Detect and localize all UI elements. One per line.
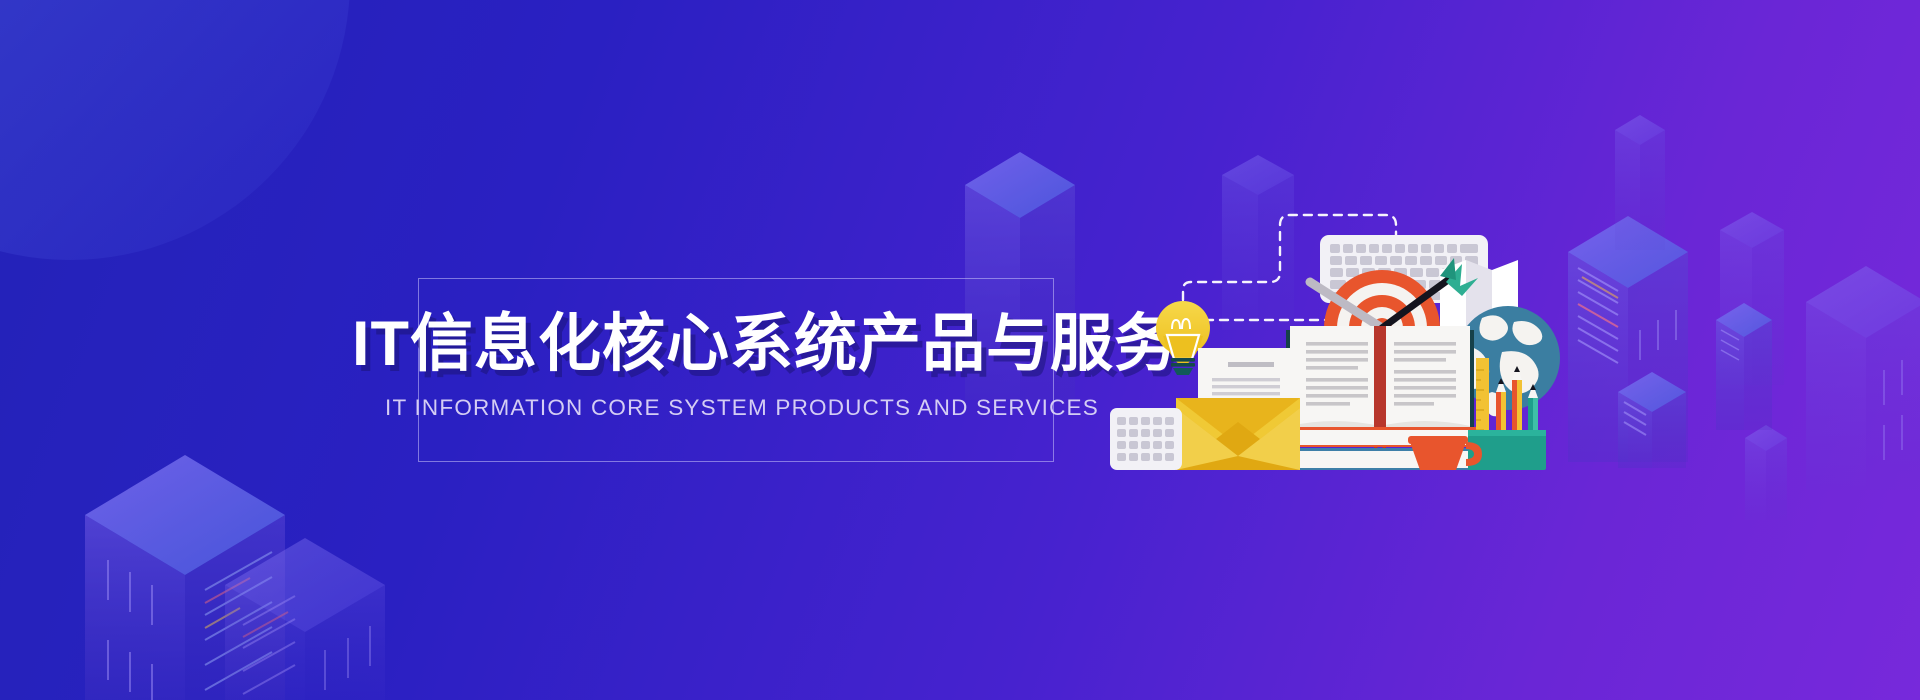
it-services-illustration — [1110, 130, 1570, 470]
building-right-tiny — [1745, 425, 1787, 520]
building-far-right-wide — [1806, 266, 1920, 490]
page-title: IT信息化核心系统产品与服务 — [352, 310, 1132, 378]
title-block: IT信息化核心系统产品与服务 IT INFORMATION CORE SYSTE… — [352, 310, 1132, 421]
building-far-right-slim — [1716, 303, 1772, 430]
building-top-right-slim — [1615, 115, 1665, 250]
page-subtitle: IT INFORMATION CORE SYSTEM PRODUCTS AND … — [352, 395, 1132, 421]
keyboard-small-icon — [1110, 408, 1182, 470]
building-right-small — [1618, 372, 1686, 468]
it-services-banner: IT信息化核心系统产品与服务 IT INFORMATION CORE SYSTE… — [0, 0, 1920, 700]
